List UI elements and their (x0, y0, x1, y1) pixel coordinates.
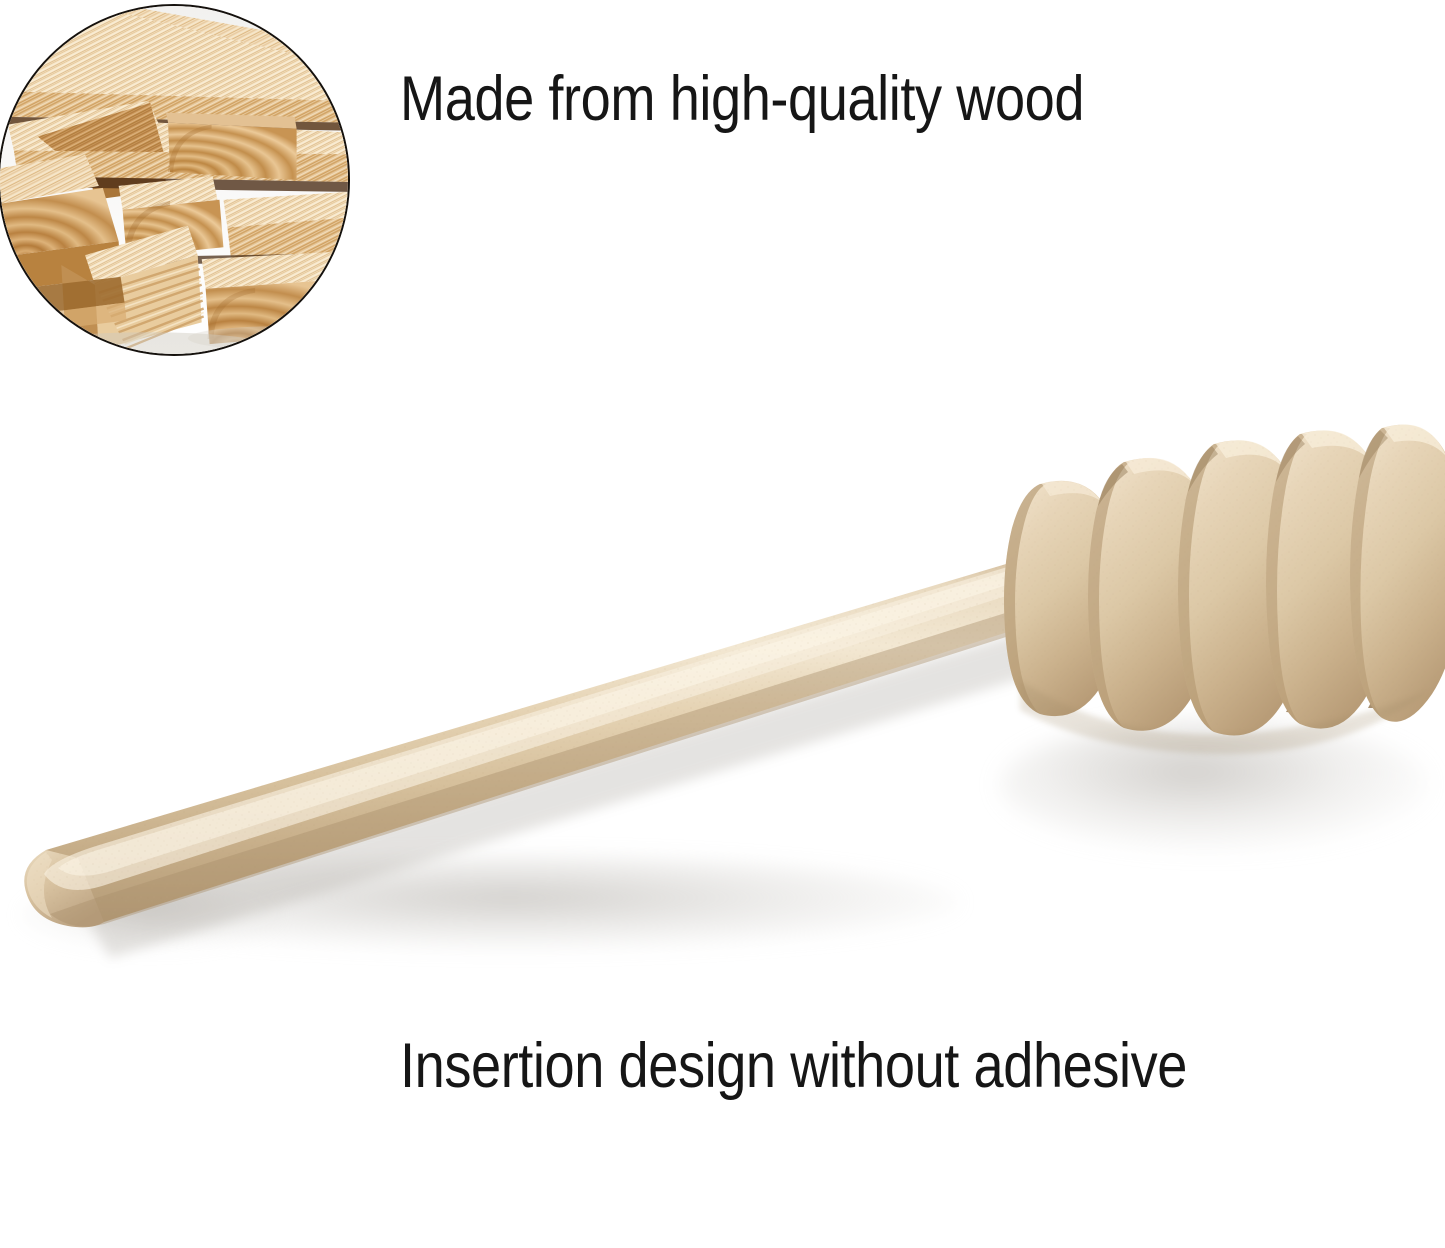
honey-dipper-product (0, 380, 1445, 1000)
feature-caption-top: Made from high-quality wood (400, 68, 1084, 131)
lumber-stack-illustration (0, 6, 348, 354)
product-feature-image: Made from high-quality wood (0, 0, 1445, 1248)
dipper-handle (24, 548, 1089, 958)
head-disc-5 (1350, 425, 1445, 722)
feature-caption-bottom: Insertion design without adhesive (400, 1035, 1187, 1098)
lumber-detail-circle (0, 4, 350, 356)
dipper-grooved-head (1004, 425, 1445, 755)
